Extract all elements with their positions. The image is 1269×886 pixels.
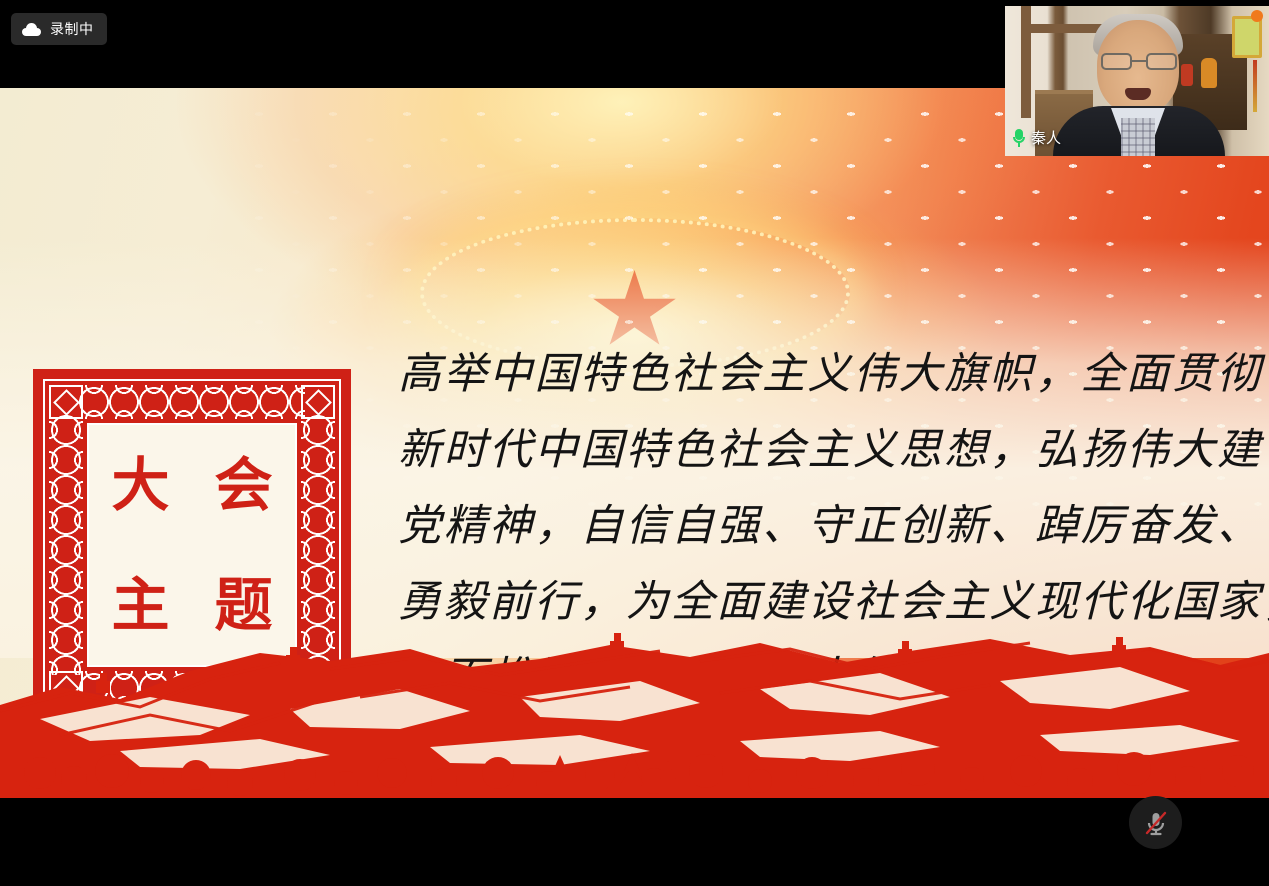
slide-text-line: 党精神，自信自强、守正创新、踔厉奋发、	[398, 488, 1218, 564]
bottom-control-bar	[0, 798, 1269, 886]
recording-label: 录制中	[50, 19, 94, 39]
meeting-screen-share-view: 录制中 大 会 主 题	[0, 0, 1269, 886]
microphone-on-icon	[1013, 129, 1025, 147]
papercut-landscape-decoration	[0, 623, 1269, 798]
mic-toggle-button[interactable]	[1129, 796, 1182, 849]
slide-text-line: 高举中国特色社会主义伟大旗帜，全面贯彻	[398, 336, 1218, 412]
recording-badge[interactable]: 录制中	[11, 13, 107, 45]
wall-tassel-decoration	[1253, 60, 1257, 112]
participant-name-label: 秦人	[1031, 127, 1061, 148]
slide-text-line: 新时代中国特色社会主义思想，弘扬伟大建	[398, 412, 1218, 488]
seal-char: 大	[111, 456, 169, 514]
person-mouth	[1125, 88, 1151, 100]
shelf-vase-decoration	[1201, 58, 1217, 88]
microphone-muted-icon	[1141, 808, 1171, 838]
corner-ornament-top-left	[49, 385, 83, 419]
person-shirt	[1121, 118, 1155, 156]
glasses-icon	[1101, 53, 1177, 70]
participant-video-tile[interactable]: 秦人	[1005, 6, 1269, 156]
shelf-object-decoration	[1181, 64, 1193, 86]
doorway-decoration	[1021, 6, 1031, 118]
corner-ornament-top-right	[301, 385, 335, 419]
shared-slide[interactable]: 大 会 主 题 高举中国特色社会主义伟大旗帜，全面贯彻 新时代中国特色社会主义思…	[0, 88, 1269, 798]
cloud-icon	[22, 23, 41, 36]
wall-art-decoration	[1232, 16, 1262, 58]
seal-char: 会	[214, 456, 272, 514]
participant-name-overlay: 秦人	[1013, 127, 1061, 148]
wall-dot-decoration	[1251, 10, 1263, 22]
ornament-top	[79, 385, 305, 419]
